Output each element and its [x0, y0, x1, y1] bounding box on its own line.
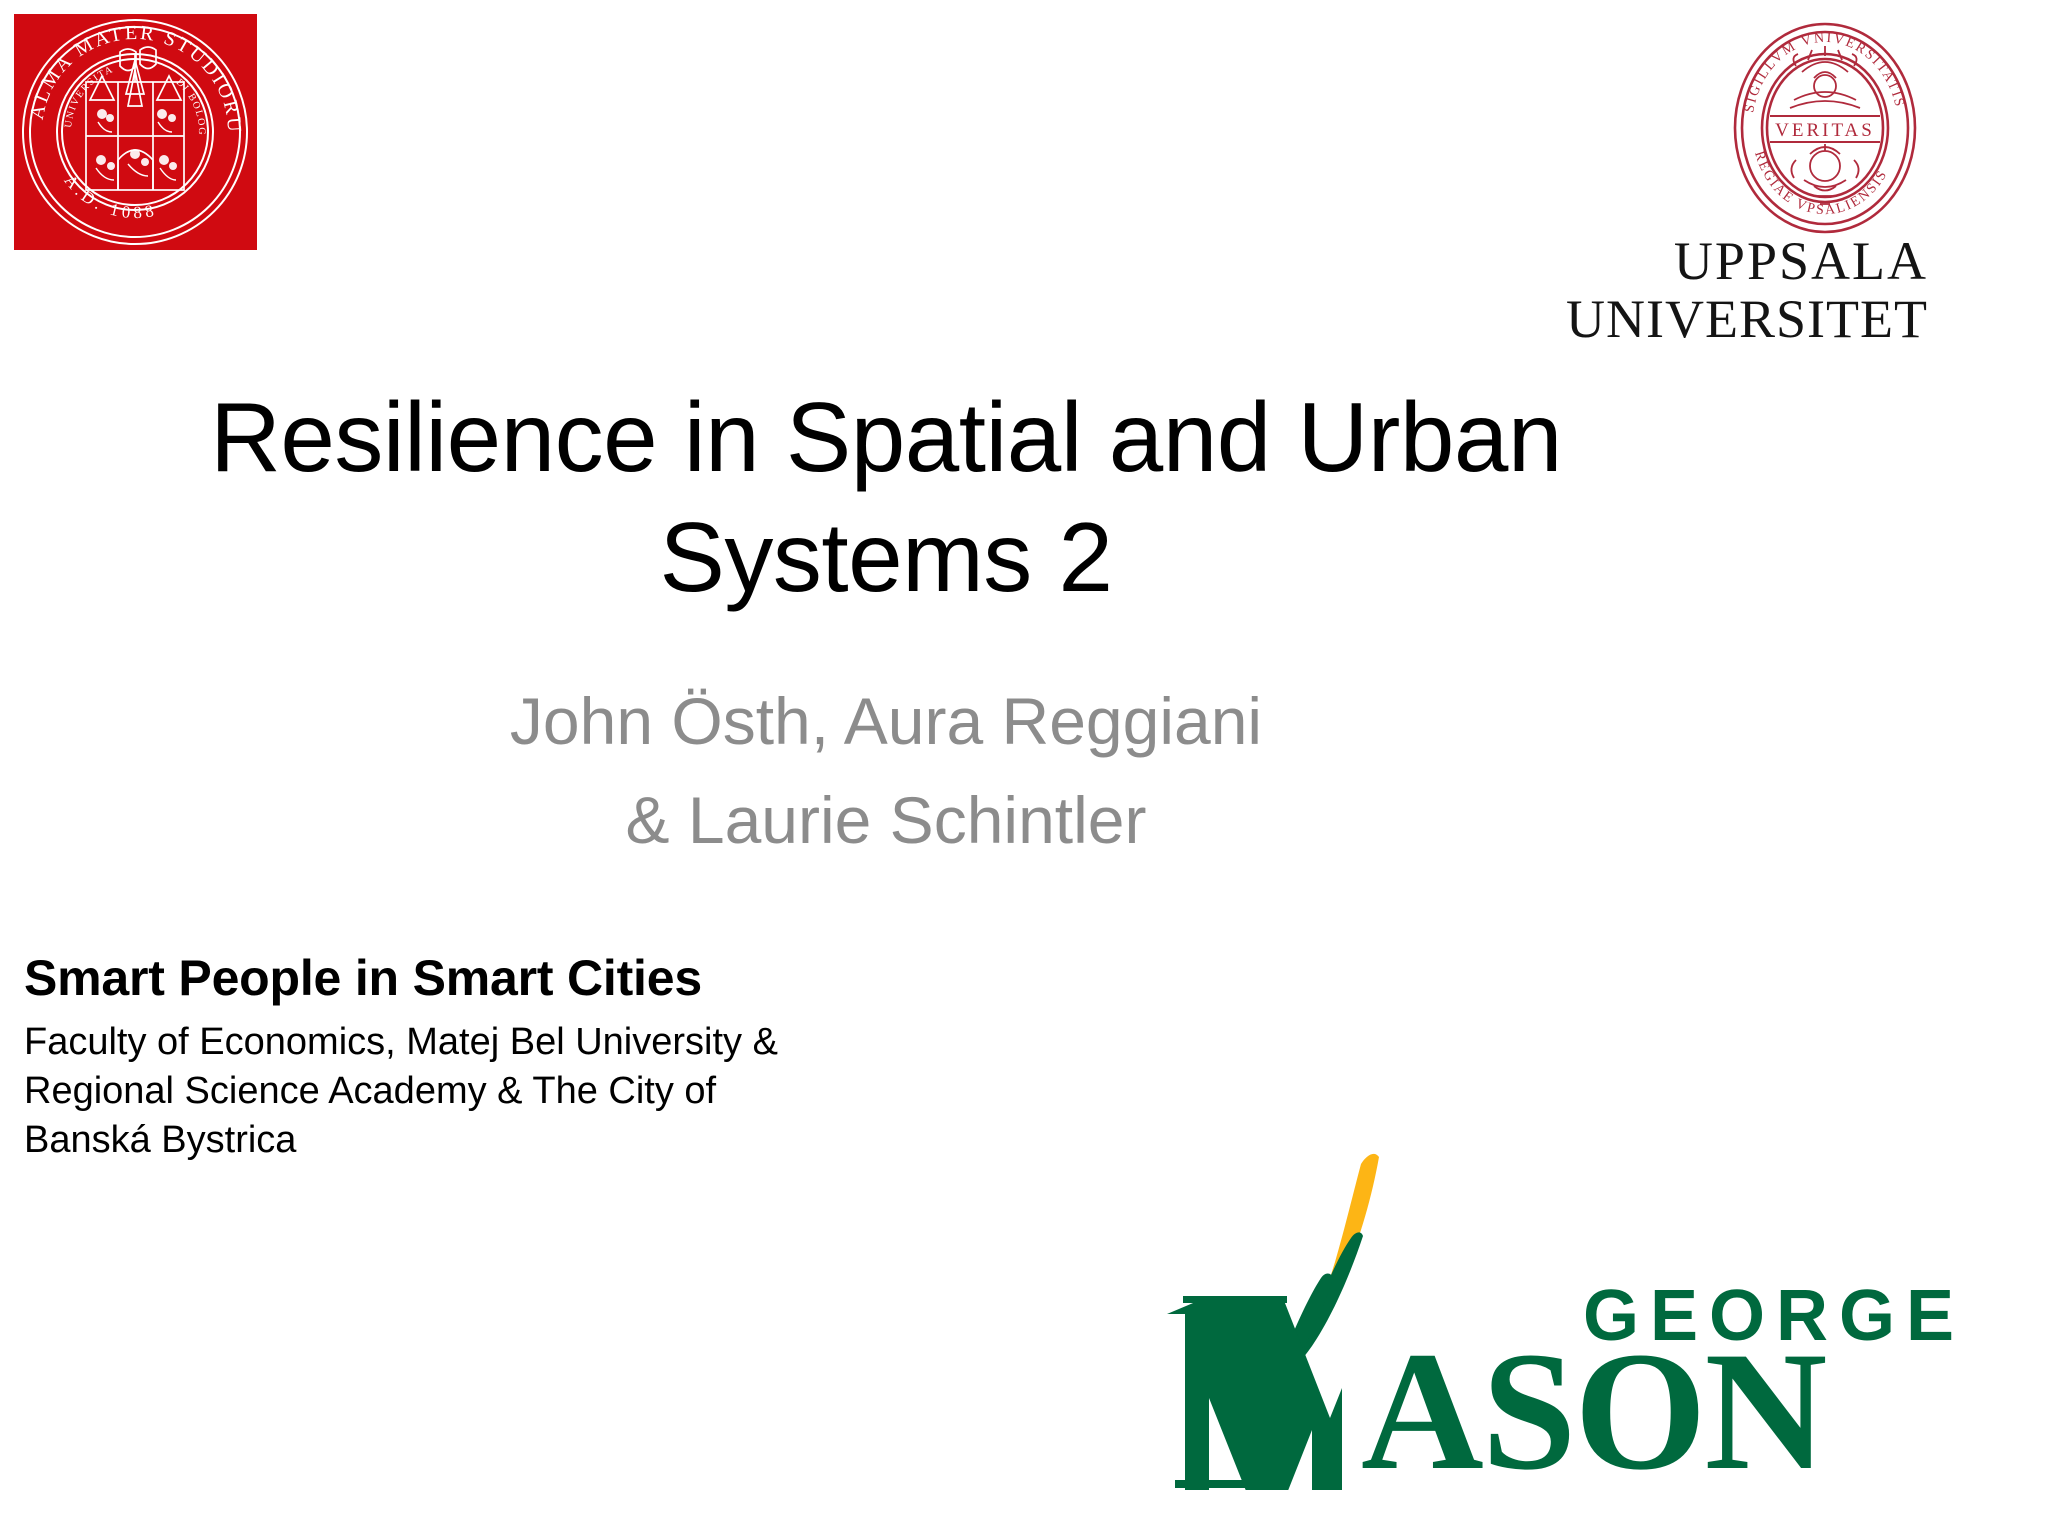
- title-slide: ALMA MATER STUDIORUM A.D. 1088 UNIVERSIT…: [0, 0, 2048, 1536]
- event-affiliation: Faculty of Economics, Matej Bel Universi…: [24, 1018, 984, 1166]
- university-of-bologna-logo: ALMA MATER STUDIORUM A.D. 1088 UNIVERSIT…: [14, 14, 257, 250]
- slide-title-line2: Systems 2: [176, 498, 1596, 618]
- author-line-1: John Östh, Aura Reggiani: [176, 672, 1596, 771]
- george-mason-university-logo: GEORGE ASON UNIVERSITY: [1165, 1150, 2035, 1490]
- svg-text:A.D. 1088: A.D. 1088: [60, 171, 159, 222]
- uppsala-wordmark: UPPSALA UNIVERSITET: [1288, 234, 1928, 346]
- gmu-text-mason: ASON: [1361, 1317, 1826, 1490]
- slide-title: Resilience in Spatial and Urban Systems …: [176, 378, 1596, 617]
- event-affiliation-line-1: Faculty of Economics, Matej Bel Universi…: [24, 1018, 984, 1067]
- author-line-2: & Laurie Schintler: [176, 771, 1596, 870]
- event-headline: Smart People in Smart Cities: [24, 950, 984, 1008]
- slide-authors: John Östh, Aura Reggiani & Laurie Schint…: [176, 672, 1596, 870]
- uppsala-wordmark-line2: UNIVERSITET: [1288, 292, 1928, 346]
- slide-title-line1: Resilience in Spatial and Urban: [176, 378, 1596, 498]
- event-affiliation-line-2: Regional Science Academy & The City of: [24, 1067, 984, 1116]
- event-info-block: Smart People in Smart Cities Faculty of …: [24, 950, 984, 1166]
- uppsala-seal-icon: SIGILLVM VNIVERSITATIS REGIAE VPSALIENSI…: [1730, 20, 1920, 236]
- uppsala-university-logo: SIGILLVM VNIVERSITATIS REGIAE VPSALIENSI…: [1730, 16, 1930, 306]
- uppsala-wordmark-line1: UPPSALA: [1288, 234, 1928, 288]
- svg-text:VERITAS: VERITAS: [1775, 120, 1875, 141]
- event-affiliation-line-3: Banská Bystrica: [24, 1116, 984, 1165]
